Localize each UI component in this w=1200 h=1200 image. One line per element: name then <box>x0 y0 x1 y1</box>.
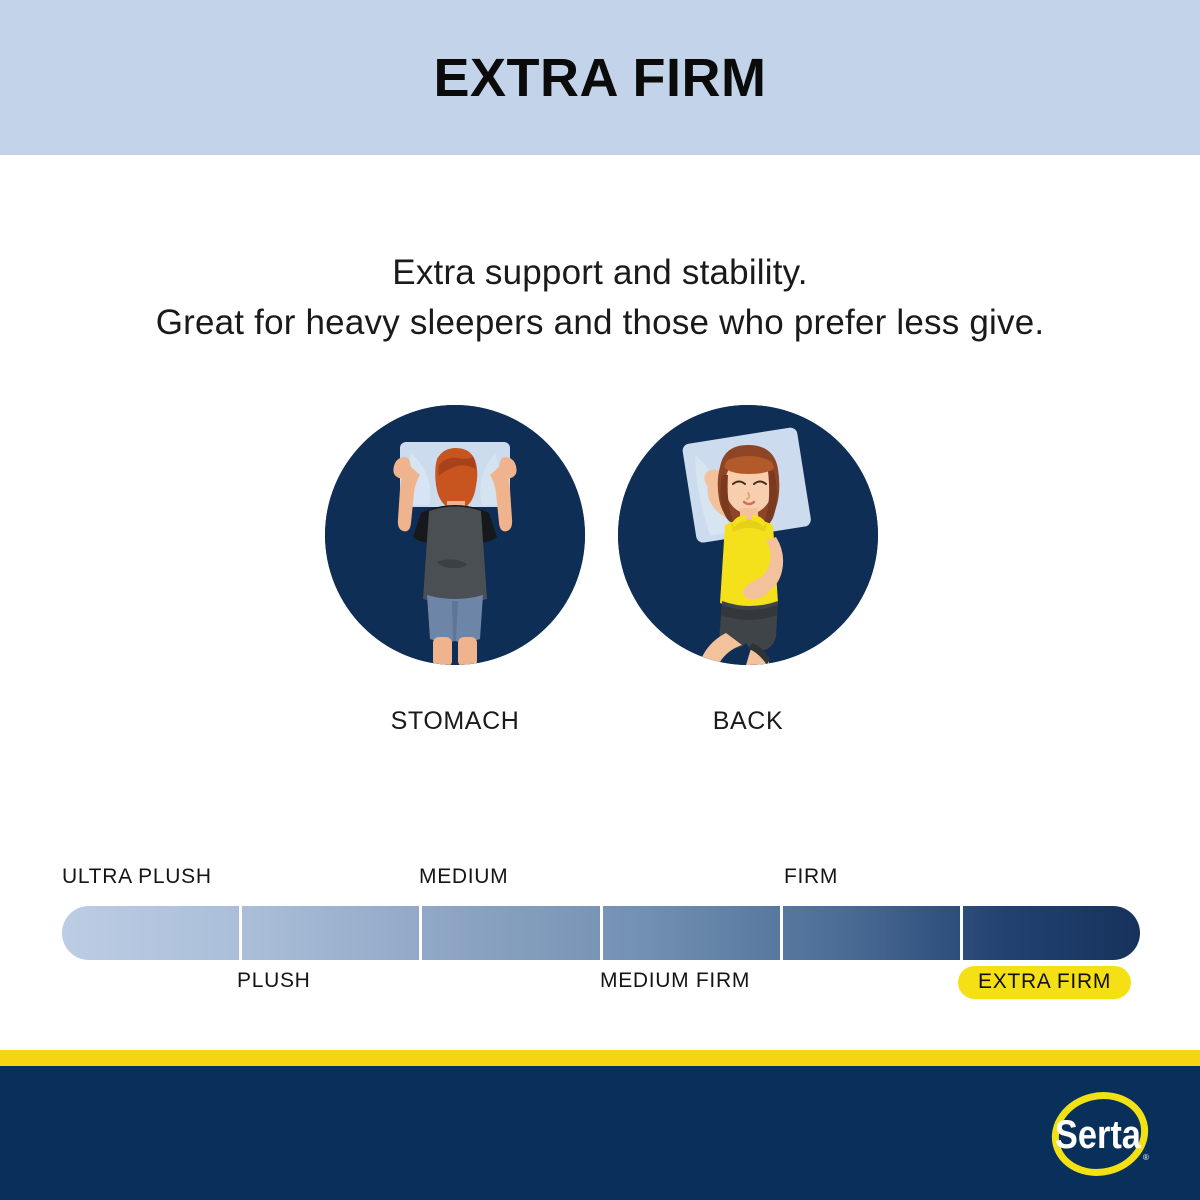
firmness-labels-bottom: PLUSH MEDIUM FIRM EXTRA FIRM <box>62 966 1140 1000</box>
footer-band <box>0 1066 1200 1200</box>
firmness-label-medium-firm: MEDIUM FIRM <box>600 966 750 996</box>
registered-trademark-mark: ® <box>1143 1153 1149 1162</box>
stomach-sleeper-illustration <box>325 405 585 665</box>
firmness-segment-extra-firm[interactable] <box>963 906 1140 960</box>
serta-logo: Serta ® <box>1042 1090 1158 1178</box>
back-sleeper-illustration <box>618 405 878 665</box>
sleep-position-back: BACK <box>618 405 878 736</box>
firmness-labels-top: ULTRA PLUSH MEDIUM FIRM <box>62 862 1140 896</box>
firmness-scale: ULTRA PLUSH MEDIUM FIRM PLUSH MEDIUM FIR… <box>62 862 1140 1012</box>
firmness-label-firm: FIRM <box>784 862 838 892</box>
sleep-position-label-stomach: STOMACH <box>325 707 585 736</box>
firmness-segment-firm[interactable] <box>783 906 963 960</box>
subtitle: Extra support and stability. Great for h… <box>0 248 1200 348</box>
serta-wordmark: Serta <box>1055 1112 1141 1157</box>
subtitle-line-2: Great for heavy sleepers and those who p… <box>0 298 1200 348</box>
firmness-segment-plush[interactable] <box>242 906 422 960</box>
page-title: EXTRA FIRM <box>0 48 1200 108</box>
sleep-position-stomach: STOMACH <box>325 405 585 736</box>
firmness-segment-ultra-plush[interactable] <box>62 906 242 960</box>
sleep-position-illustrations: STOMACH <box>0 405 1200 750</box>
firmness-label-medium: MEDIUM <box>419 862 508 892</box>
subtitle-line-1: Extra support and stability. <box>0 248 1200 298</box>
firmness-segment-medium-firm[interactable] <box>603 906 783 960</box>
firmness-label-plush: PLUSH <box>237 966 311 996</box>
firmness-bar[interactable] <box>62 906 1140 960</box>
firmness-label-extra-firm-selected: EXTRA FIRM <box>958 966 1131 999</box>
footer-accent-stripe <box>0 1050 1200 1066</box>
sleep-position-label-back: BACK <box>618 707 878 736</box>
firmness-segment-medium[interactable] <box>422 906 602 960</box>
firmness-label-ultra-plush: ULTRA PLUSH <box>62 862 212 892</box>
